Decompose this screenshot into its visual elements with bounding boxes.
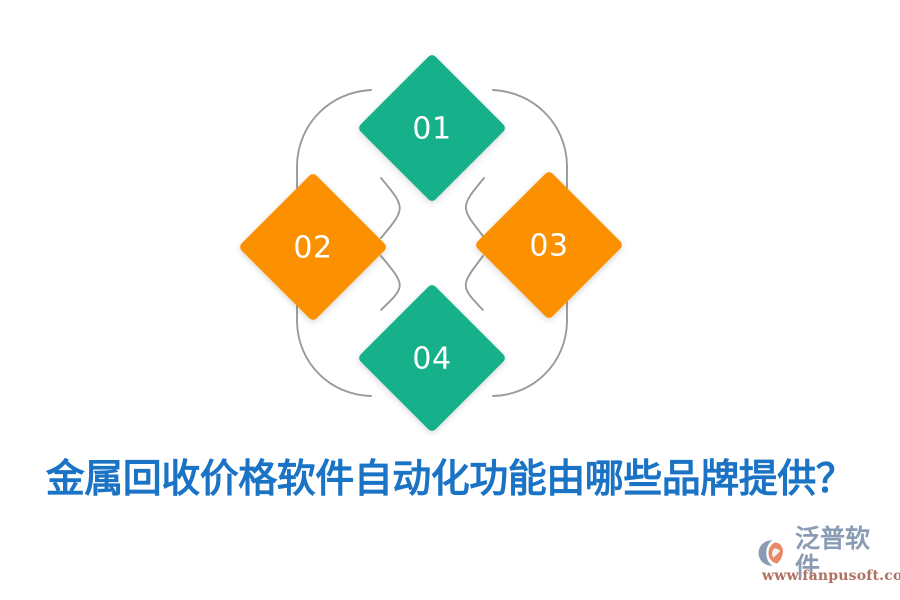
diagram-canvas: 01 02 03 04	[0, 0, 900, 445]
logo-url-text: www.fanpusoft.com	[762, 568, 900, 584]
node-04-label: 04	[412, 342, 451, 377]
page-title: 金属回收价格软件自动化功能由哪些品牌提供？	[0, 452, 900, 508]
node-01-label: 01	[412, 112, 451, 147]
node-02-label: 02	[293, 231, 332, 266]
fanpu-arc-logo-icon	[758, 539, 792, 567]
connector-inner-top-right	[466, 178, 484, 236]
connector-outer-bottom-right	[493, 302, 567, 396]
connector-outer-top-right	[493, 90, 567, 188]
page-root: 01 02 03 04 金属回收价格软件自动化功能由哪些品牌提供？	[0, 0, 900, 600]
node-03-label: 03	[529, 229, 568, 264]
connector-inner-bottom-right	[466, 256, 483, 310]
diamond-cycle-diagram: 01 02 03 04	[0, 0, 900, 445]
connector-inner-bottom-left	[381, 256, 400, 310]
logo-brand-row: 泛普软件	[758, 536, 892, 569]
brand-logo[interactable]: 泛普软件 www.fanpusoft.com	[758, 536, 892, 588]
connector-inner-top-left	[381, 178, 400, 238]
